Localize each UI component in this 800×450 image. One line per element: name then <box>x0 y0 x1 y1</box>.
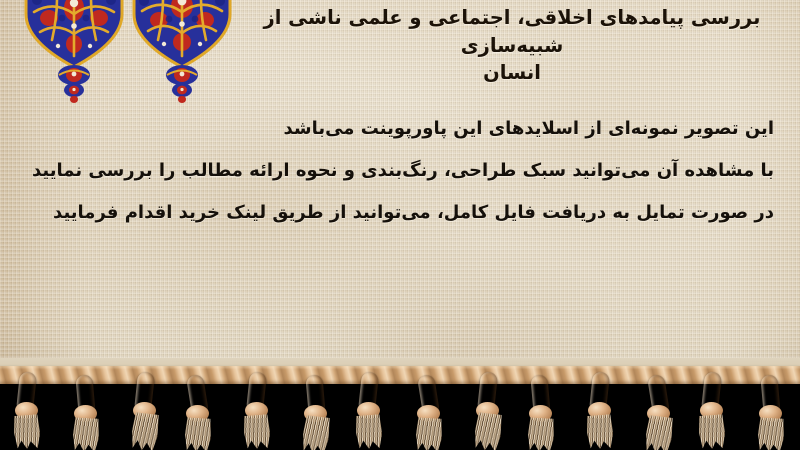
tassel-skirt <box>130 412 160 450</box>
ornament-drop-bead <box>70 96 78 103</box>
fringe-tassel <box>242 372 272 448</box>
tassel-skirt <box>184 417 212 450</box>
fringe-tassel <box>183 375 213 450</box>
slide-title: بررسی پیامدهای اخلاقی، اجتماعی و علمی نا… <box>238 4 786 87</box>
fringe-cord <box>0 366 800 384</box>
fringe-tassel <box>697 372 727 448</box>
fringe-tassel <box>526 375 556 450</box>
tassel-skirt <box>415 417 443 450</box>
tassel-skirt <box>72 417 100 450</box>
tassel-skirt <box>243 414 271 450</box>
tassel-skirt <box>12 414 40 450</box>
fringe-tassel <box>473 372 503 448</box>
tassel-skirt <box>473 412 503 450</box>
carpet-tassel-fringe <box>0 358 800 450</box>
fringe-tassel <box>71 375 101 450</box>
tassel-skirt <box>758 417 786 450</box>
tassel-skirt <box>301 415 331 450</box>
tassel-skirt <box>355 414 383 450</box>
fringe-tassel <box>354 372 384 448</box>
slide-canvas: بررسی پیامدهای اخلاقی، اجتماعی و علمی نا… <box>0 0 800 450</box>
fringe-tassel <box>414 375 444 450</box>
slide-body-line-3: در صورت تمایل به دریافت فایل کامل، می‌تو… <box>74 192 774 234</box>
slide-body-line-1: این تصویر نمونه‌ای از اسلایدهای این پاور… <box>74 108 774 150</box>
fringe-tassel <box>644 375 674 450</box>
fringe-tassel <box>12 372 42 448</box>
tassel-skirt <box>644 415 674 450</box>
fringe-tassel <box>130 372 160 448</box>
tassel-skirt <box>586 414 614 450</box>
slide-body-line-2: با مشاهده آن می‌توانید سبک طراحی، رنگ‌بن… <box>74 150 774 192</box>
tassel-skirt <box>527 417 555 450</box>
fringe-tassel <box>756 375 786 450</box>
ornament-drop-bead <box>178 96 186 103</box>
fringe-tassel <box>585 372 615 448</box>
tassel-skirt <box>698 414 726 450</box>
fringe-tassel <box>301 375 331 450</box>
slide-body: این تصویر نمونه‌ای از اسلایدهای این پاور… <box>74 108 774 233</box>
slide-title-line-1: بررسی پیامدهای اخلاقی، اجتماعی و علمی نا… <box>263 6 760 57</box>
persian-illuminated-medallion-left-icon <box>22 0 126 108</box>
slide-title-line-2: انسان <box>483 61 541 84</box>
persian-illuminated-medallion-right-icon <box>130 0 234 108</box>
